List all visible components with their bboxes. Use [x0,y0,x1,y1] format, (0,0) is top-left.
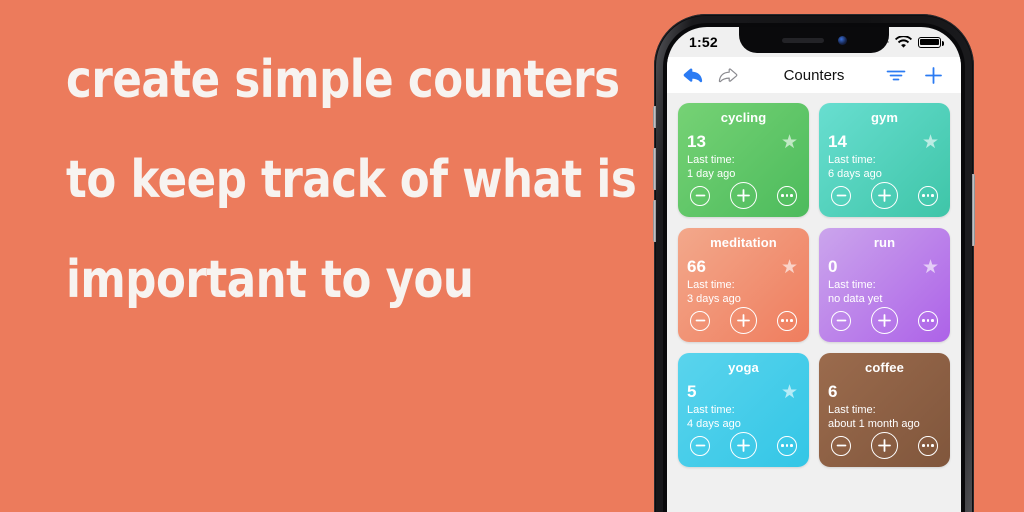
last-time-label: Last time: [687,279,735,291]
minus-circle-icon[interactable] [831,186,851,206]
phone-mockup: 1:52 [654,14,974,512]
counter-card[interactable]: coffee6Last time:about 1 month ago [819,353,950,467]
counter-card-body: 0Last time:no data yet★ [828,252,941,307]
more-options-icon[interactable] [918,436,938,456]
plus-circle-icon[interactable] [730,182,757,209]
more-options-icon[interactable] [918,311,938,331]
status-clock: 1:52 [689,34,718,50]
filter-icon[interactable] [886,68,906,82]
favorite-star-icon[interactable]: ★ [922,258,939,277]
plus-circle-icon[interactable] [871,182,898,209]
counter-last-time: Last time:6 days ago [828,154,941,181]
promo-line-2: to keep track of what is [66,130,596,230]
redo-arrow-icon[interactable] [718,67,739,84]
counter-card-title: yoga [687,360,800,375]
last-time-value: about 1 month ago [828,418,920,430]
volume-down-button[interactable] [653,200,656,242]
minus-circle-icon[interactable] [690,186,710,206]
promo-line-1: create simple counters [66,30,596,130]
plus-circle-icon[interactable] [871,432,898,459]
counter-card-body: 14Last time:6 days ago★ [828,127,941,182]
front-camera-icon [838,36,847,45]
favorite-star-icon[interactable]: ★ [781,383,798,402]
wifi-icon [895,36,912,49]
counter-last-time: Last time:4 days ago [687,404,800,431]
plus-icon[interactable] [924,66,943,85]
counter-card[interactable]: gym14Last time:6 days ago★ [819,103,950,217]
last-time-value: 1 day ago [687,168,735,180]
counter-card-actions [687,182,800,209]
undo-arrow-icon[interactable] [683,67,704,84]
counter-last-time: Last time:3 days ago [687,279,800,306]
minus-circle-icon[interactable] [690,311,710,331]
counter-card-body: 6Last time:about 1 month ago [828,377,941,432]
more-options-icon[interactable] [777,186,797,206]
volume-up-button[interactable] [653,148,656,190]
counter-grid: cycling13Last time:1 day ago★gym14Last t… [667,93,961,467]
notch [739,27,889,53]
more-options-icon[interactable] [777,436,797,456]
counter-card-actions [687,432,800,459]
last-time-value: 6 days ago [828,168,882,180]
last-time-value: 3 days ago [687,293,741,305]
promo-headline: create simple counters to keep track of … [66,30,636,330]
more-options-icon[interactable] [777,311,797,331]
silent-switch[interactable] [653,106,656,128]
last-time-label: Last time: [828,279,876,291]
counter-card-body: 5Last time:4 days ago★ [687,377,800,432]
counter-card-title: meditation [687,235,800,250]
last-time-label: Last time: [828,404,876,416]
last-time-value: no data yet [828,293,882,305]
counter-card-actions [687,307,800,334]
minus-circle-icon[interactable] [831,311,851,331]
earpiece-speaker-icon [782,38,824,43]
counter-card-body: 13Last time:1 day ago★ [687,127,800,182]
counter-card-title: cycling [687,110,800,125]
counter-card[interactable]: yoga5Last time:4 days ago★ [678,353,809,467]
app-toolbar: Counters [667,57,961,93]
minus-circle-icon[interactable] [831,436,851,456]
phone-screen: 1:52 [667,27,961,512]
promo-line-3: important to you [66,230,596,330]
counter-card-actions [828,182,941,209]
counter-card-title: coffee [828,360,941,375]
more-options-icon[interactable] [918,186,938,206]
counter-card[interactable]: cycling13Last time:1 day ago★ [678,103,809,217]
counter-card[interactable]: run0Last time:no data yet★ [819,228,950,342]
counter-card-title: gym [828,110,941,125]
counter-card-title: run [828,235,941,250]
last-time-value: 4 days ago [687,418,741,430]
plus-circle-icon[interactable] [871,307,898,334]
counter-last-time: Last time:no data yet [828,279,941,306]
counter-card-body: 66Last time:3 days ago★ [687,252,800,307]
battery-full-icon [918,37,941,48]
last-time-label: Last time: [828,154,876,166]
counter-last-time: Last time:1 day ago [687,154,800,181]
last-time-label: Last time: [687,154,735,166]
favorite-star-icon[interactable]: ★ [781,258,798,277]
counter-value: 6 [828,383,941,400]
plus-circle-icon[interactable] [730,307,757,334]
counter-card-actions [828,432,941,459]
counter-card-actions [828,307,941,334]
minus-circle-icon[interactable] [690,436,710,456]
counter-card[interactable]: meditation66Last time:3 days ago★ [678,228,809,342]
last-time-label: Last time: [687,404,735,416]
counter-last-time: Last time:about 1 month ago [828,404,941,431]
favorite-star-icon[interactable]: ★ [781,133,798,152]
power-button[interactable] [972,174,975,246]
plus-circle-icon[interactable] [730,432,757,459]
favorite-star-icon[interactable]: ★ [922,133,939,152]
